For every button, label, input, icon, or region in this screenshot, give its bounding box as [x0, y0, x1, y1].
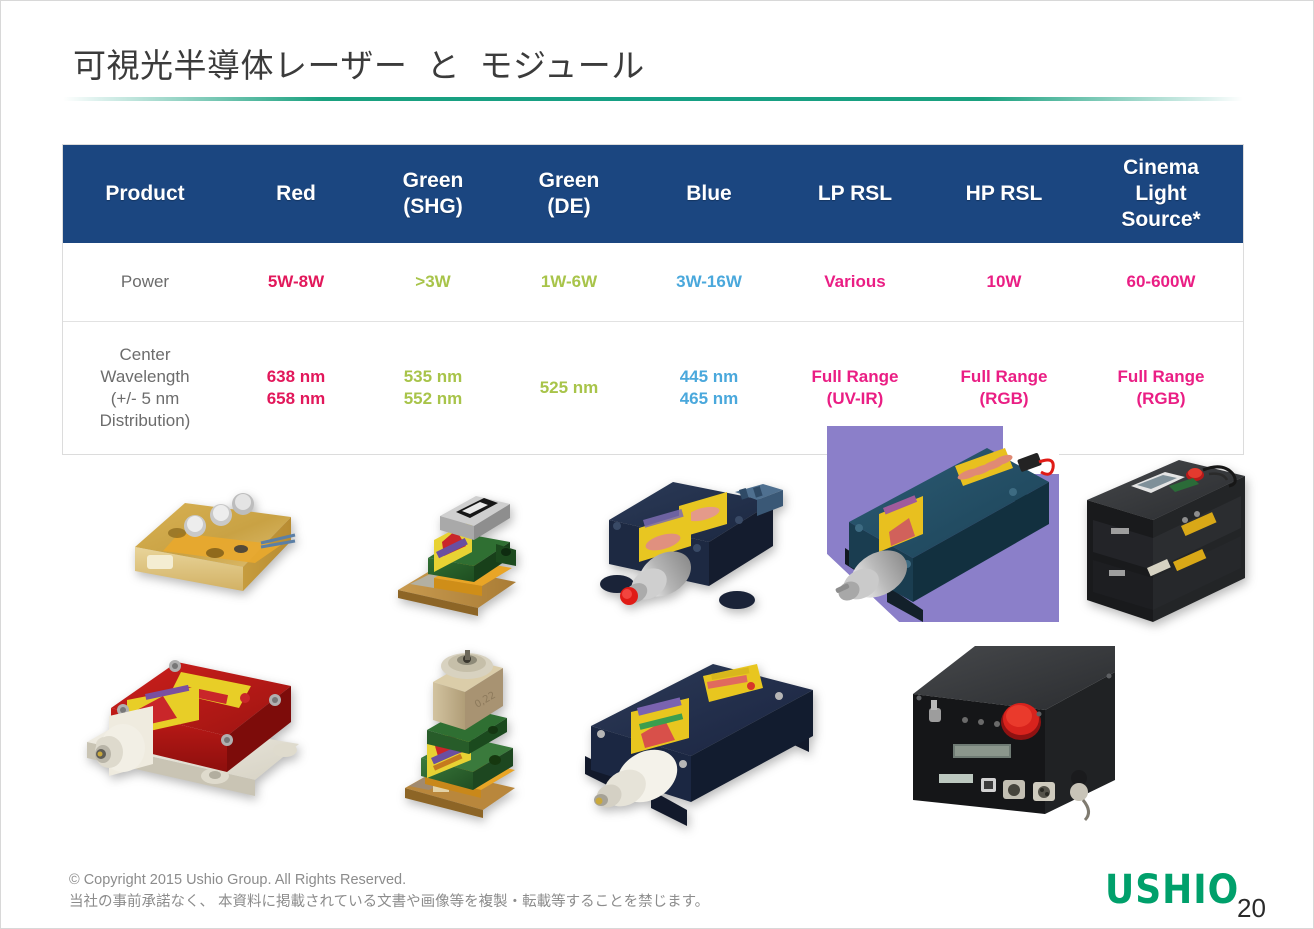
cell-value-line: 638 nm — [231, 366, 361, 388]
column-header-lp-rsl: LP RSL — [781, 145, 929, 243]
cell-value-line: 5W-8W — [231, 271, 361, 293]
title-block: 可視光半導体レーザー と モジュール — [73, 45, 1243, 87]
cell-value-line: Full Range — [933, 366, 1075, 388]
footer-copyright: © Copyright 2015 Ushio Group. All Rights… — [69, 869, 709, 913]
photo-teal-laser-module-purple-background — [827, 426, 1059, 622]
specification-table: Product Red Green(SHG) Green(DE) Blue LP… — [63, 145, 1243, 454]
photo-navy-blue-laser-module-white-cone — [565, 654, 835, 826]
cell-power-hp-rsl: 10W — [929, 243, 1079, 322]
cell-value-line: 3W-16W — [641, 271, 777, 293]
cell-power-cinema: 60-600W — [1079, 243, 1243, 322]
slide-canvas: 可視光半導体レーザー と モジュール Product Red Green(SHG… — [0, 0, 1314, 929]
cell-value-line: (RGB) — [1083, 388, 1239, 410]
column-header-product: Product — [63, 145, 227, 243]
page-number: 20 — [1237, 893, 1266, 924]
cell-value-line: (UV-IR) — [785, 388, 925, 410]
cell-value-line: 525 nm — [505, 377, 633, 399]
title-underline-rule — [63, 97, 1243, 101]
photo-green-shg-module — [394, 486, 520, 621]
cell-value-line: 465 nm — [641, 388, 777, 410]
column-header-blue: Blue — [637, 145, 781, 243]
table-header: Product Red Green(SHG) Green(DE) Blue LP… — [63, 145, 1243, 243]
page-title: 可視光半導体レーザー と モジュール — [73, 45, 1243, 87]
cell-value-line: 1W-6W — [505, 271, 633, 293]
cell-value-line: Full Range — [1083, 366, 1239, 388]
cell-value-line: Various — [785, 271, 925, 293]
table-header-row: Product Red Green(SHG) Green(DE) Blue LP… — [63, 145, 1243, 243]
photo-navy-blue-laser-module-red-cap — [587, 476, 799, 611]
cell-value-line: (RGB) — [933, 388, 1075, 410]
photo-green-tower-module: 0,22 — [403, 648, 529, 824]
cell-value-line: 445 nm — [641, 366, 777, 388]
column-header-green-shg: Green(SHG) — [365, 145, 501, 243]
cell-value-line: 658 nm — [231, 388, 361, 410]
cell-power-red: 5W-8W — [227, 243, 365, 322]
photo-gold-laser-diode-package — [123, 481, 303, 596]
table-body: Power 5W-8W >3W 1W-6W 3W-16W Various 10W… — [63, 243, 1243, 454]
column-header-hp-rsl: HP RSL — [929, 145, 1079, 243]
cell-value-line: 60-600W — [1083, 271, 1239, 293]
photo-red-laser-module — [79, 648, 315, 820]
ushio-logo: USHIO — [1105, 867, 1239, 913]
cell-power-green-de: 1W-6W — [501, 243, 637, 322]
cell-power-green-shg: >3W — [365, 243, 501, 322]
column-header-green-de: Green(DE) — [501, 145, 637, 243]
cell-value-line: Full Range — [785, 366, 925, 388]
photo-black-light-source-chassis — [903, 632, 1125, 834]
product-photo-gallery: 0,22 — [1, 426, 1314, 866]
cell-power-blue: 3W-16W — [637, 243, 781, 322]
cell-value-line: 10W — [933, 271, 1075, 293]
row-label-power: Power — [63, 243, 227, 322]
cell-power-lp-rsl: Various — [781, 243, 929, 322]
column-header-cinema-light-source: CinemaLightSource* — [1079, 145, 1243, 243]
column-header-red: Red — [227, 145, 365, 243]
cell-value-line: >3W — [369, 271, 497, 293]
photo-black-rack-unit-with-display — [1073, 458, 1249, 630]
table-row-power: Power 5W-8W >3W 1W-6W 3W-16W Various 10W… — [63, 243, 1243, 322]
cell-value-line: 552 nm — [369, 388, 497, 410]
cell-value-line: 535 nm — [369, 366, 497, 388]
